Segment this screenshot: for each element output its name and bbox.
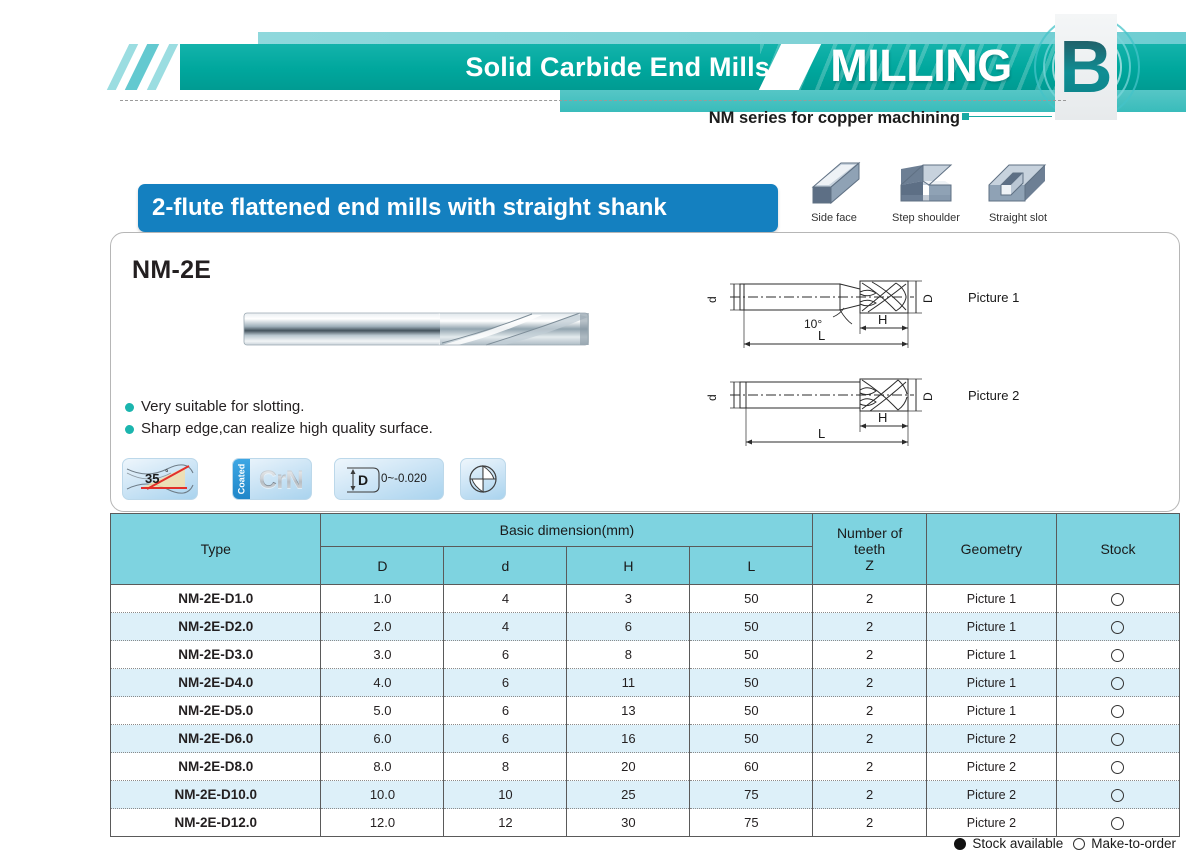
- cell-teeth: 2: [813, 669, 927, 697]
- cell-D: 5.0: [321, 697, 444, 725]
- legend-make-to-order: Make-to-order: [1073, 836, 1176, 851]
- svg-text:35: 35: [145, 471, 159, 486]
- cell-stock: [1056, 753, 1179, 781]
- open-circle-icon: [1073, 838, 1085, 850]
- cell-d: 4: [444, 613, 567, 641]
- operation-step-shoulder: Step shoulder: [880, 155, 972, 224]
- diameter-tolerance-icon: D: [339, 460, 383, 500]
- picture1-drawing: [730, 281, 922, 348]
- picture2-dim-D: D: [921, 392, 935, 401]
- feature-text: Sharp edge,can realize high quality surf…: [141, 420, 433, 437]
- cell-D: 3.0: [321, 641, 444, 669]
- cell-geometry: Picture 2: [926, 753, 1056, 781]
- feature-text: Very suitable for slotting.: [141, 398, 304, 415]
- straight-slot-icon: [983, 155, 1053, 211]
- badge-coating: Coated CrN: [232, 458, 312, 500]
- col-header-geometry: Geometry: [926, 514, 1056, 585]
- operation-label: Step shoulder: [880, 212, 972, 224]
- table-body: NM-2E-D1.01.043502Picture 1NM-2E-D2.02.0…: [111, 585, 1180, 837]
- bullet-dot-icon: [125, 425, 134, 434]
- table-row: NM-2E-D3.03.068502Picture 1: [111, 641, 1180, 669]
- two-flute-cross-section-icon: [461, 459, 505, 499]
- cell-stock: [1056, 781, 1179, 809]
- badge-helix-angle: 35 °: [122, 458, 198, 500]
- picture2-dim-L: L: [818, 426, 825, 441]
- badge-cross-section: [460, 458, 506, 500]
- cell-type: NM-2E-D3.0: [111, 641, 321, 669]
- operation-straight-slot: Straight slot: [972, 155, 1064, 224]
- picture1-angle: 10°: [804, 317, 822, 331]
- cell-L: 60: [690, 753, 813, 781]
- cell-teeth: 2: [813, 641, 927, 669]
- cell-stock: [1056, 725, 1179, 753]
- cell-L: 50: [690, 725, 813, 753]
- operation-icons: Side face Step shoulder Straight slot: [788, 155, 1068, 233]
- col-header-D: D: [321, 547, 444, 585]
- cell-type: NM-2E-D10.0: [111, 781, 321, 809]
- product-features: Very suitable for slotting. Sharp edge,c…: [125, 398, 605, 442]
- cell-H: 30: [567, 809, 690, 837]
- teeth-line2: teeth: [813, 541, 926, 557]
- cell-stock: [1056, 669, 1179, 697]
- page-header: Solid Carbide End Mills MILLING B NM ser…: [0, 0, 1186, 140]
- cell-geometry: Picture 1: [926, 669, 1056, 697]
- cell-L: 50: [690, 641, 813, 669]
- cell-d: 4: [444, 585, 567, 613]
- cell-H: 6: [567, 613, 690, 641]
- col-header-teeth: Number of teeth Z: [813, 514, 927, 585]
- cell-type: NM-2E-D8.0: [111, 753, 321, 781]
- picture1-dim-H: H: [878, 312, 887, 327]
- open-circle-icon: [1111, 621, 1124, 634]
- col-header-stock: Stock: [1056, 514, 1179, 585]
- cell-L: 50: [690, 613, 813, 641]
- section-tab-badge: B: [1028, 8, 1146, 126]
- cell-stock: [1056, 641, 1179, 669]
- teeth-line1: Number of: [813, 525, 926, 541]
- cell-d: 12: [444, 809, 567, 837]
- coating-name: CrN: [252, 463, 310, 497]
- table-row: NM-2E-D8.08.0820602Picture 2: [111, 753, 1180, 781]
- legend-stock-available: Stock available: [954, 836, 1063, 851]
- operation-label: Straight slot: [972, 212, 1064, 224]
- open-circle-icon: [1111, 705, 1124, 718]
- cell-H: 8: [567, 641, 690, 669]
- tolerance-value: 0~-0.020: [381, 473, 427, 485]
- cell-D: 8.0: [321, 753, 444, 781]
- bullet-dot-icon: [125, 403, 134, 412]
- cell-type: NM-2E-D5.0: [111, 697, 321, 725]
- cell-D: 1.0: [321, 585, 444, 613]
- picture1-dim-d: d: [705, 296, 719, 303]
- picture2-drawing: [730, 379, 922, 446]
- svg-text:°: °: [165, 468, 169, 478]
- open-circle-icon: [1111, 733, 1124, 746]
- cell-D: 2.0: [321, 613, 444, 641]
- header-subtitle: NM series for copper machining: [560, 106, 960, 130]
- cell-stock: [1056, 585, 1179, 613]
- cell-geometry: Picture 2: [926, 725, 1056, 753]
- cell-H: 3: [567, 585, 690, 613]
- banner-title: Solid Carbide End Mills: [418, 46, 770, 88]
- cell-type: NM-2E-D6.0: [111, 725, 321, 753]
- cell-teeth: 2: [813, 725, 927, 753]
- open-circle-icon: [1111, 817, 1124, 830]
- table-row: NM-2E-D1.01.043502Picture 1: [111, 585, 1180, 613]
- table-header: Type Basic dimension(mm) Number of teeth…: [111, 514, 1180, 585]
- filled-circle-icon: [954, 838, 966, 850]
- open-circle-icon: [1111, 761, 1124, 774]
- col-header-basic-dimension: Basic dimension(mm): [321, 514, 813, 547]
- section-title: 2-flute flattened end mills with straigh…: [138, 184, 778, 232]
- col-header-d: d: [444, 547, 567, 585]
- cell-d: 6: [444, 725, 567, 753]
- open-circle-icon: [1111, 593, 1124, 606]
- cell-D: 10.0: [321, 781, 444, 809]
- tab-letter: B: [1055, 14, 1117, 120]
- operation-label: Side face: [788, 212, 880, 224]
- table-row: NM-2E-D4.04.0611502Picture 1: [111, 669, 1180, 697]
- cell-L: 50: [690, 585, 813, 613]
- cell-teeth: 2: [813, 809, 927, 837]
- col-header-L: L: [690, 547, 813, 585]
- stock-legend: Stock available Make-to-order: [0, 836, 1176, 851]
- cell-d: 10: [444, 781, 567, 809]
- table-row: NM-2E-D6.06.0616502Picture 2: [111, 725, 1180, 753]
- picture1-dim-D: D: [921, 294, 935, 303]
- cell-teeth: 2: [813, 753, 927, 781]
- cell-D: 12.0: [321, 809, 444, 837]
- cell-d: 8: [444, 753, 567, 781]
- picture1-label: Picture 1: [968, 290, 1019, 305]
- cell-geometry: Picture 1: [926, 585, 1056, 613]
- cell-geometry: Picture 1: [926, 697, 1056, 725]
- cell-H: 11: [567, 669, 690, 697]
- open-circle-icon: [1111, 677, 1124, 690]
- table-row: NM-2E-D2.02.046502Picture 1: [111, 613, 1180, 641]
- technical-drawings: d D H L 10° Picture 1: [700, 262, 1100, 462]
- legend-label: Stock available: [972, 836, 1063, 851]
- picture2-dim-H: H: [878, 410, 887, 425]
- cell-geometry: Picture 1: [926, 613, 1056, 641]
- specification-table: Type Basic dimension(mm) Number of teeth…: [110, 513, 1180, 837]
- cell-stock: [1056, 809, 1179, 837]
- cell-H: 16: [567, 725, 690, 753]
- picture2-label: Picture 2: [968, 388, 1019, 403]
- teeth-line3: Z: [813, 557, 926, 573]
- coating-prefix-label: Coated: [233, 459, 250, 499]
- table-row: NM-2E-D10.010.01025752Picture 2: [111, 781, 1180, 809]
- open-circle-icon: [1111, 649, 1124, 662]
- cell-type: NM-2E-D1.0: [111, 585, 321, 613]
- side-face-icon: [803, 155, 865, 211]
- svg-text:D: D: [358, 472, 368, 488]
- cell-D: 4.0: [321, 669, 444, 697]
- cell-geometry: Picture 1: [926, 641, 1056, 669]
- cell-L: 50: [690, 669, 813, 697]
- operation-side-face: Side face: [788, 155, 880, 224]
- table-row: NM-2E-D12.012.01230752Picture 2: [111, 809, 1180, 837]
- cell-teeth: 2: [813, 613, 927, 641]
- picture2-dim-d: d: [705, 394, 719, 401]
- legend-label: Make-to-order: [1091, 836, 1176, 851]
- cell-L: 75: [690, 781, 813, 809]
- feature-item: Sharp edge,can realize high quality surf…: [125, 420, 605, 442]
- subtitle-connector-line: [966, 116, 1052, 117]
- cell-teeth: 2: [813, 585, 927, 613]
- cell-H: 20: [567, 753, 690, 781]
- col-header-type: Type: [111, 514, 321, 585]
- product-photo: [236, 305, 596, 353]
- cell-teeth: 2: [813, 781, 927, 809]
- cell-stock: [1056, 697, 1179, 725]
- cell-d: 6: [444, 641, 567, 669]
- open-circle-icon: [1111, 789, 1124, 802]
- table-row: NM-2E-D5.05.0613502Picture 1: [111, 697, 1180, 725]
- banner-category: MILLING: [806, 38, 1036, 94]
- cell-teeth: 2: [813, 697, 927, 725]
- cell-D: 6.0: [321, 725, 444, 753]
- cell-type: NM-2E-D12.0: [111, 809, 321, 837]
- cell-L: 75: [690, 809, 813, 837]
- cell-stock: [1056, 613, 1179, 641]
- badge-tolerance: D 0~-0.020: [334, 458, 444, 500]
- cell-type: NM-2E-D4.0: [111, 669, 321, 697]
- product-model-name: NM-2E: [132, 256, 211, 285]
- step-shoulder-icon: [893, 155, 959, 211]
- cell-geometry: Picture 2: [926, 781, 1056, 809]
- cell-geometry: Picture 2: [926, 809, 1056, 837]
- col-header-H: H: [567, 547, 690, 585]
- cell-H: 25: [567, 781, 690, 809]
- cell-type: NM-2E-D2.0: [111, 613, 321, 641]
- cell-H: 13: [567, 697, 690, 725]
- cell-d: 6: [444, 669, 567, 697]
- cell-L: 50: [690, 697, 813, 725]
- header-dashed-divider: [120, 100, 1066, 101]
- feature-item: Very suitable for slotting.: [125, 398, 605, 420]
- helix-angle-icon: 35 °: [123, 459, 197, 499]
- cell-d: 6: [444, 697, 567, 725]
